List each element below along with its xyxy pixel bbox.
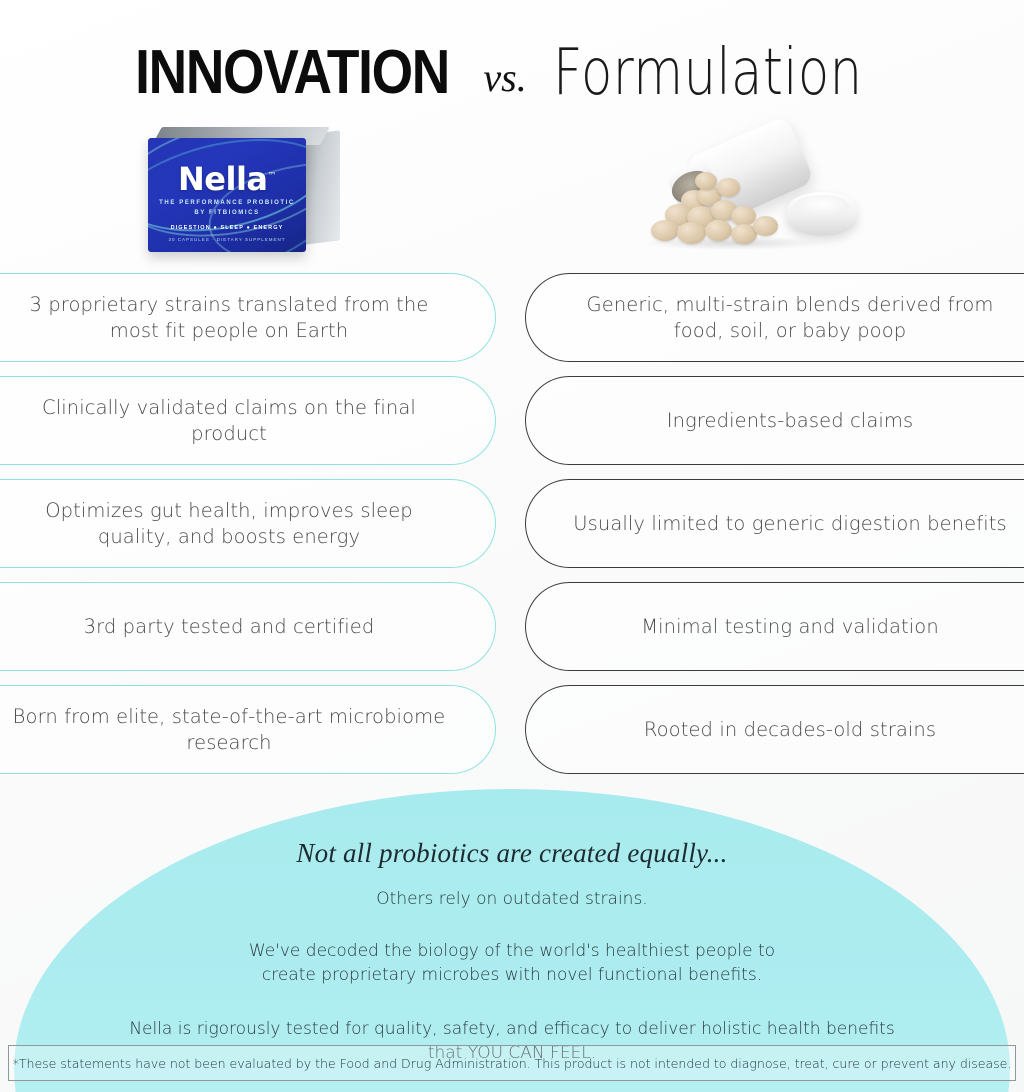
innovation-pill: Optimizes gut health, improves sleep qua… — [0, 479, 496, 568]
tablet — [651, 220, 679, 241]
bottom-copy-block: Not all probiotics are created equally..… — [0, 838, 1024, 1066]
box-tagline-line-2: BY FITBIOMICS — [148, 210, 306, 216]
header-innovation-title: INNOVATION — [135, 42, 449, 104]
innovation-text: Clinically validated claims on the final… — [11, 395, 447, 446]
innovation-pill: 3rd party tested and certified — [0, 582, 496, 671]
tablet — [677, 222, 706, 244]
tablet — [695, 172, 717, 190]
innovation-pill: Born from elite, state-of-the-art microb… — [0, 685, 496, 774]
innovation-text: 3rd party tested and certified — [84, 614, 375, 640]
tablet — [731, 206, 756, 226]
legal-disclaimer-box: *These statements have not been evaluate… — [8, 1045, 1016, 1081]
bottom-headline: Not all probiotics are created equally..… — [0, 838, 1024, 869]
box-benefits-line: DIGESTION ● SLEEP ● ENERGY — [148, 225, 306, 231]
formulation-pill: Rooted in decades-old strains — [525, 685, 1024, 774]
header-versus-label: vs. — [483, 54, 526, 101]
generic-pill-bottle-image — [635, 128, 860, 256]
box-tagline-line-1: THE PERFORMANCE PROBIOTIC — [148, 200, 306, 206]
innovation-text: Optimizes gut health, improves sleep qua… — [11, 498, 447, 549]
formulation-text: Usually limited to generic digestion ben… — [573, 511, 1007, 537]
trademark-symbol: ™ — [268, 171, 277, 181]
bottle-cap — [787, 192, 857, 236]
header-formulation-title: Formulation — [553, 41, 863, 105]
legal-disclaimer-text: *These statements have not been evaluate… — [13, 1056, 1012, 1071]
formulation-text: Minimal testing and validation — [641, 614, 939, 640]
formulation-text: Generic, multi-strain blends derived fro… — [566, 292, 1014, 343]
tablet — [705, 220, 732, 241]
formulation-pill: Usually limited to generic digestion ben… — [525, 479, 1024, 568]
formulation-text: Rooted in decades-old strains — [644, 717, 936, 743]
innovation-pill: 3 proprietary strains translated from th… — [0, 273, 496, 362]
page-header: INNOVATION vs. Formulation — [0, 28, 1024, 118]
formulation-pill: Ingredients-based claims — [525, 376, 1024, 465]
tablet — [717, 178, 740, 197]
nella-brand-name: Nella™ — [148, 160, 306, 198]
bottom-subheadline: Others rely on outdated strains. — [0, 889, 1024, 909]
nella-product-box-image: Nella™ THE PERFORMANCE PROBIOTIC BY FITB… — [145, 125, 340, 255]
formulation-pill: Generic, multi-strain blends derived fro… — [525, 273, 1024, 362]
innovation-text: Born from elite, state-of-the-art microb… — [11, 704, 447, 755]
tablet — [753, 216, 778, 236]
formulation-text: Ingredients-based claims — [667, 408, 914, 434]
box-front-panel: Nella™ THE PERFORMANCE PROBIOTIC BY FITB… — [148, 138, 306, 252]
infographic-page: INNOVATION vs. Formulation Nella™ THE PE… — [0, 0, 1024, 1092]
bottom-paragraph-1: We've decoded the biology of the world's… — [232, 939, 792, 987]
innovation-pill: Clinically validated claims on the final… — [0, 376, 496, 465]
innovation-text: 3 proprietary strains translated from th… — [11, 292, 447, 343]
formulation-pill: Minimal testing and validation — [525, 582, 1024, 671]
box-capsule-count: 30 CAPSULES · DIETARY SUPPLEMENT — [148, 237, 306, 242]
